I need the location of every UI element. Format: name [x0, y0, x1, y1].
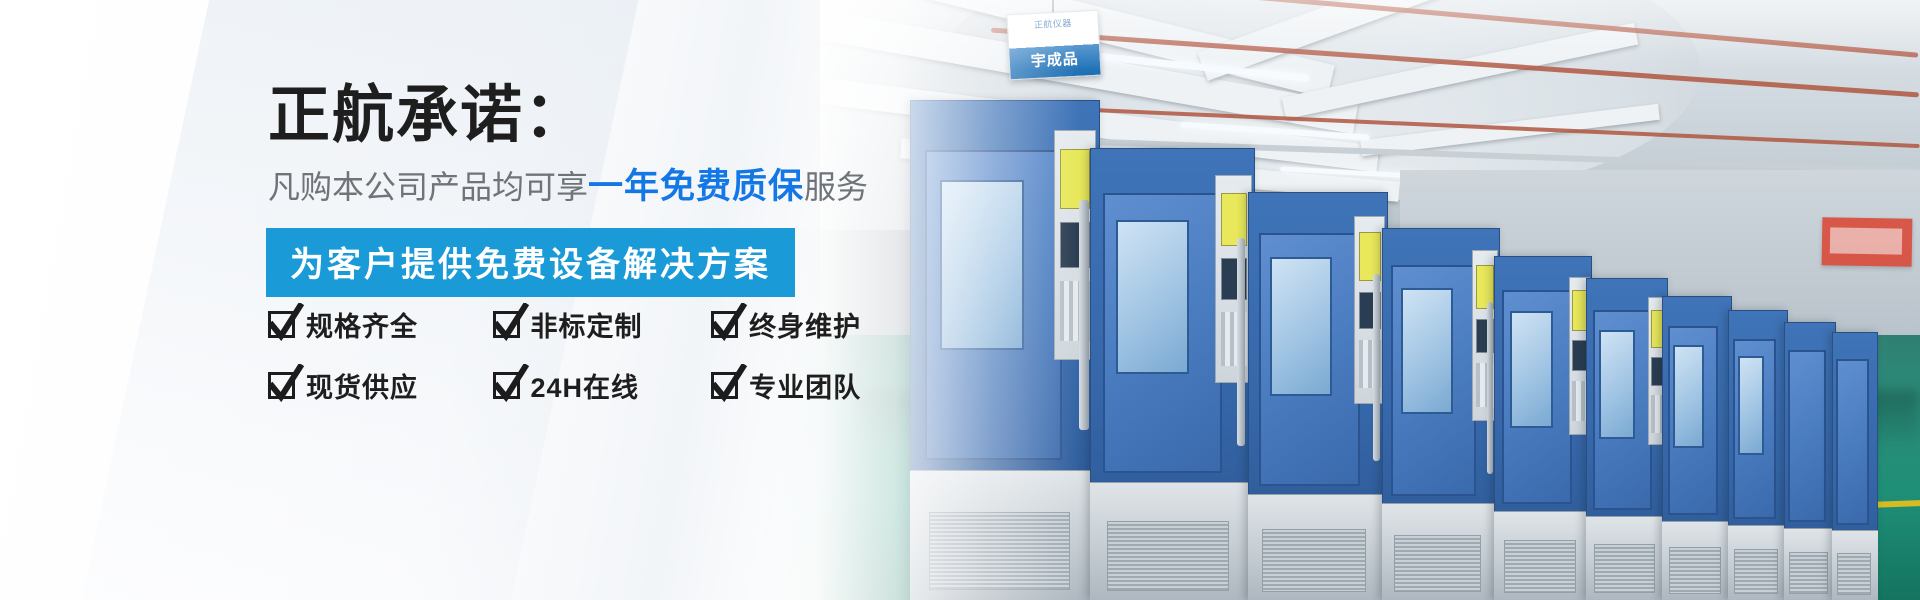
page-title: 正航承诺： — [268, 85, 588, 147]
test-chamber — [1586, 278, 1668, 600]
checkbox-checked-icon — [493, 311, 520, 338]
feature-row: 现货供应 24H在线 专业团队 — [268, 366, 908, 405]
feature-item: 专业团队 — [711, 366, 908, 405]
feature-item: 24H在线 — [493, 366, 712, 405]
feature-label: 专业团队 — [749, 366, 861, 405]
feature-row: 规格齐全 非标定制 终身维护 — [268, 305, 908, 344]
checkbox-checked-icon — [493, 372, 520, 399]
promo-banner: 正航仪器 宇成品 — [0, 0, 1920, 600]
checkbox-checked-icon — [268, 372, 295, 399]
feature-label: 现货供应 — [306, 366, 418, 405]
feature-item: 非标定制 — [493, 305, 712, 344]
subheadline-prefix: 凡购本公司产品均可享 — [268, 169, 588, 205]
test-chamber — [1784, 322, 1836, 600]
feature-label: 24H在线 — [531, 366, 640, 405]
test-chamber — [1832, 332, 1878, 600]
checkbox-checked-icon — [268, 311, 295, 338]
feature-label: 非标定制 — [531, 305, 643, 344]
checkbox-checked-icon — [711, 372, 738, 399]
feature-item: 现货供应 — [268, 366, 493, 405]
banner-content: 正航承诺： 凡购本公司产品均可享一年免费质保服务 为客户提供免费设备解决方案 规… — [0, 0, 900, 600]
checkbox-checked-icon — [711, 311, 738, 338]
test-chamber — [1248, 192, 1388, 600]
feature-item: 规格齐全 — [268, 305, 493, 344]
feature-label: 终身维护 — [749, 305, 861, 344]
test-chamber — [1728, 310, 1788, 600]
test-chamber — [1382, 228, 1500, 600]
feature-item: 终身维护 — [711, 305, 908, 344]
test-chamber — [1662, 296, 1732, 600]
test-chamber — [1494, 256, 1592, 600]
feature-label: 规格齐全 — [306, 305, 418, 344]
factory-photo: 正航仪器 宇成品 — [760, 0, 1920, 600]
subheadline: 凡购本公司产品均可享一年免费质保服务 — [268, 168, 868, 207]
feature-list: 规格齐全 非标定制 终身维护 — [268, 305, 908, 427]
test-chamber — [1090, 148, 1255, 600]
tagline-ribbon: 为客户提供免费设备解决方案 — [266, 228, 795, 297]
subheadline-suffix: 服务 — [804, 169, 868, 205]
subheadline-highlight: 一年免费质保 — [588, 167, 804, 206]
